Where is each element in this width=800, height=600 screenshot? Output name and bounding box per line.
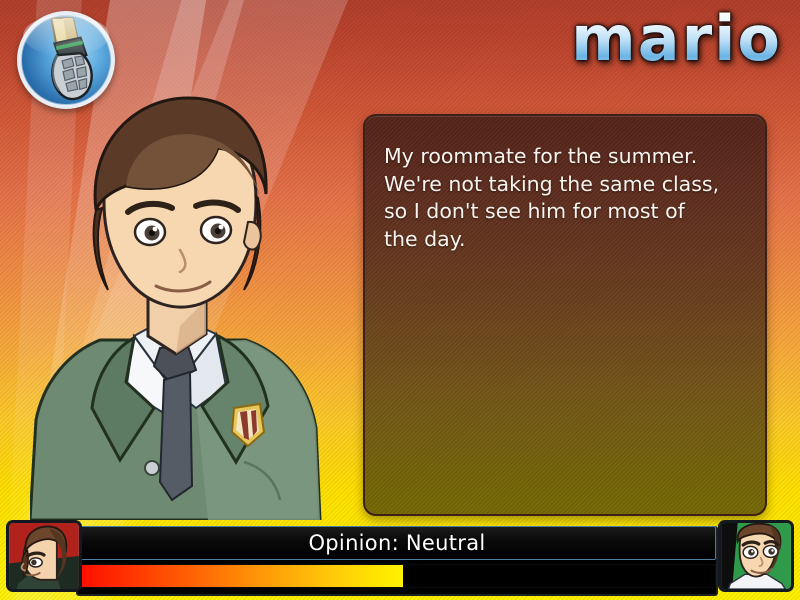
character-portrait-mario[interactable]	[718, 520, 794, 592]
game-screen: mario My roommate for the summer. We're …	[0, 0, 800, 600]
hud-bar: Opinion: Neutral	[0, 522, 800, 600]
logo-badge[interactable]	[17, 11, 115, 109]
status-badge: Opinion: Neutral	[308, 531, 485, 555]
status-bar: Opinion: Neutral	[78, 526, 716, 560]
dialogue-box[interactable]: My roommate for the summer. We're not ta…	[363, 114, 767, 516]
badge-gloss	[23, 15, 109, 56]
dialogue-text: My roommate for the summer. We're not ta…	[365, 116, 765, 253]
character-sprite	[30, 90, 360, 520]
player-portrait[interactable]	[6, 520, 82, 592]
game-title: mario	[571, 8, 782, 70]
opinion-meter-fill	[79, 565, 403, 587]
opinion-meter	[78, 564, 716, 588]
